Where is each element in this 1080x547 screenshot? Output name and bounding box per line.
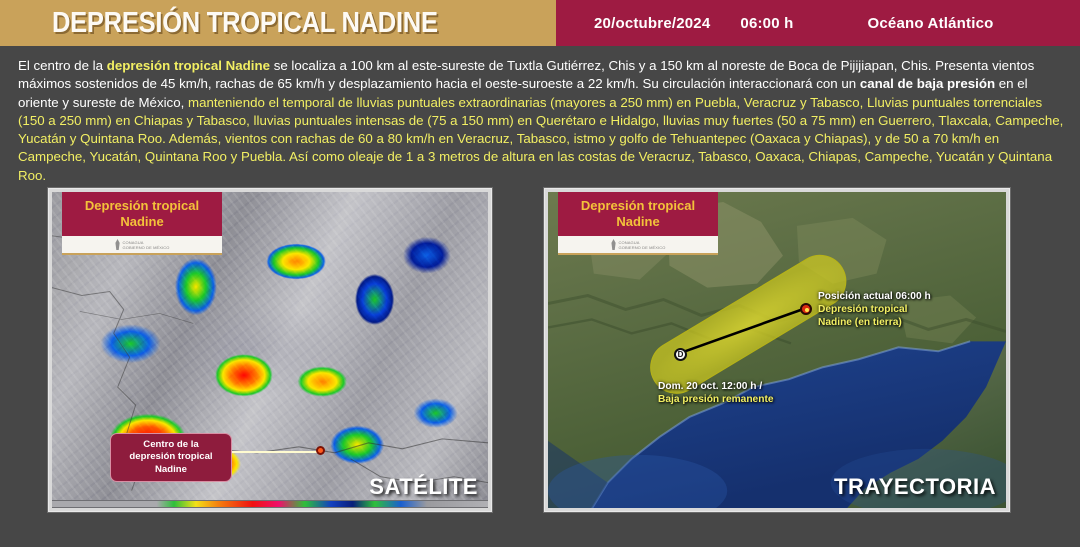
satellite-plate-line1: Depresión tropical <box>66 198 218 214</box>
header-time: 06:00 h <box>740 15 793 32</box>
trajectory-title-plate: Depresión tropical Nadine CONAGUA GOBIER… <box>558 192 718 255</box>
trajectory-panel-inner: Depresión tropical Nadine CONAGUA GOBIER… <box>548 192 1006 508</box>
eagle-icon <box>611 239 617 250</box>
bulletin-seg-1: El centro de la <box>18 58 107 73</box>
trajectory-panel[interactable]: Depresión tropical Nadine CONAGUA GOBIER… <box>544 188 1010 512</box>
satellite-panel[interactable]: Depresión tropical Nadine CONAGUA GOBIER… <box>48 188 492 512</box>
page-title: DEPRESIÓN TROPICAL NADINE <box>52 7 438 40</box>
current-position-marker <box>800 303 812 315</box>
forecast-annotation: Dom. 20 oct. 12:00 h / Baja presión rema… <box>658 380 774 406</box>
trajectory-plate-line1: Depresión tropical <box>562 198 714 214</box>
conagua-logo-icon: CONAGUA GOBIERNO DE MÉXICO <box>611 239 666 250</box>
storm-center-callout-line3: Nadine <box>115 464 227 476</box>
center-pointer-line <box>230 451 320 453</box>
forecast-time: Dom. 20 oct. 12:00 h / <box>658 380 774 393</box>
forecast-point-marker: D <box>674 348 687 361</box>
bulletin-text: El centro de la depresión tropical Nadin… <box>18 57 1066 185</box>
bulletin-highlight-trough: canal de baja presión <box>860 76 995 91</box>
header-left-band: DEPRESIÓN TROPICAL NADINE <box>0 0 556 46</box>
storm-center-callout-line2: depresión tropical <box>115 451 227 463</box>
conagua-logo-icon: CONAGUA GOBIERNO DE MÉXICO <box>115 239 170 250</box>
conagua-logo-line2: GOBIERNO DE MÉXICO <box>123 245 170 250</box>
trajectory-plate-red: Depresión tropical Nadine <box>558 192 718 236</box>
header-basin: Océano Atlántico <box>868 15 994 32</box>
satellite-title-plate: Depresión tropical Nadine CONAGUA GOBIER… <box>62 192 222 255</box>
current-position-time: Posición actual 06:00 h <box>818 290 931 303</box>
current-position-status: Nadine (en tierra) <box>818 316 931 329</box>
header-date: 20/octubre/2024 <box>594 15 710 32</box>
satellite-plate-red: Depresión tropical Nadine <box>62 192 222 236</box>
current-position-annotation: Posición actual 06:00 h Depresión tropic… <box>818 290 931 330</box>
current-position-name: Depresión tropical <box>818 303 931 316</box>
forecast-status: Baja presión remanente <box>658 393 774 406</box>
satellite-caption: SATÉLITE <box>369 474 478 500</box>
eagle-icon <box>115 239 121 250</box>
conagua-logo-text: CONAGUA GOBIERNO DE MÉXICO <box>123 240 170 250</box>
storm-center-callout-line1: Centro de la <box>115 439 227 451</box>
conagua-logo-line2: GOBIERNO DE MÉXICO <box>619 245 666 250</box>
satellite-panel-inner: Depresión tropical Nadine CONAGUA GOBIER… <box>52 192 488 508</box>
bulletin-highlight-storm: depresión tropical Nadine <box>107 58 270 73</box>
trajectory-plate-white: CONAGUA GOBIERNO DE MÉXICO <box>558 236 718 255</box>
storm-center-callout: Centro de la depresión tropical Nadine <box>110 433 232 482</box>
conagua-logo-text: CONAGUA GOBIERNO DE MÉXICO <box>619 240 666 250</box>
satellite-color-scale-bar <box>52 500 488 508</box>
header-bar: DEPRESIÓN TROPICAL NADINE 20/octubre/202… <box>0 0 1080 46</box>
trajectory-caption: TRAYECTORIA <box>834 474 996 500</box>
header-right-band: 20/octubre/2024 06:00 h Océano Atlántico <box>556 0 1080 46</box>
storm-center-marker <box>316 446 325 455</box>
trajectory-plate-line2: Nadine <box>562 214 714 230</box>
satellite-plate-white: CONAGUA GOBIERNO DE MÉXICO <box>62 236 222 255</box>
satellite-plate-line2: Nadine <box>66 214 218 230</box>
bulletin-page: DEPRESIÓN TROPICAL NADINE 20/octubre/202… <box>0 0 1080 547</box>
